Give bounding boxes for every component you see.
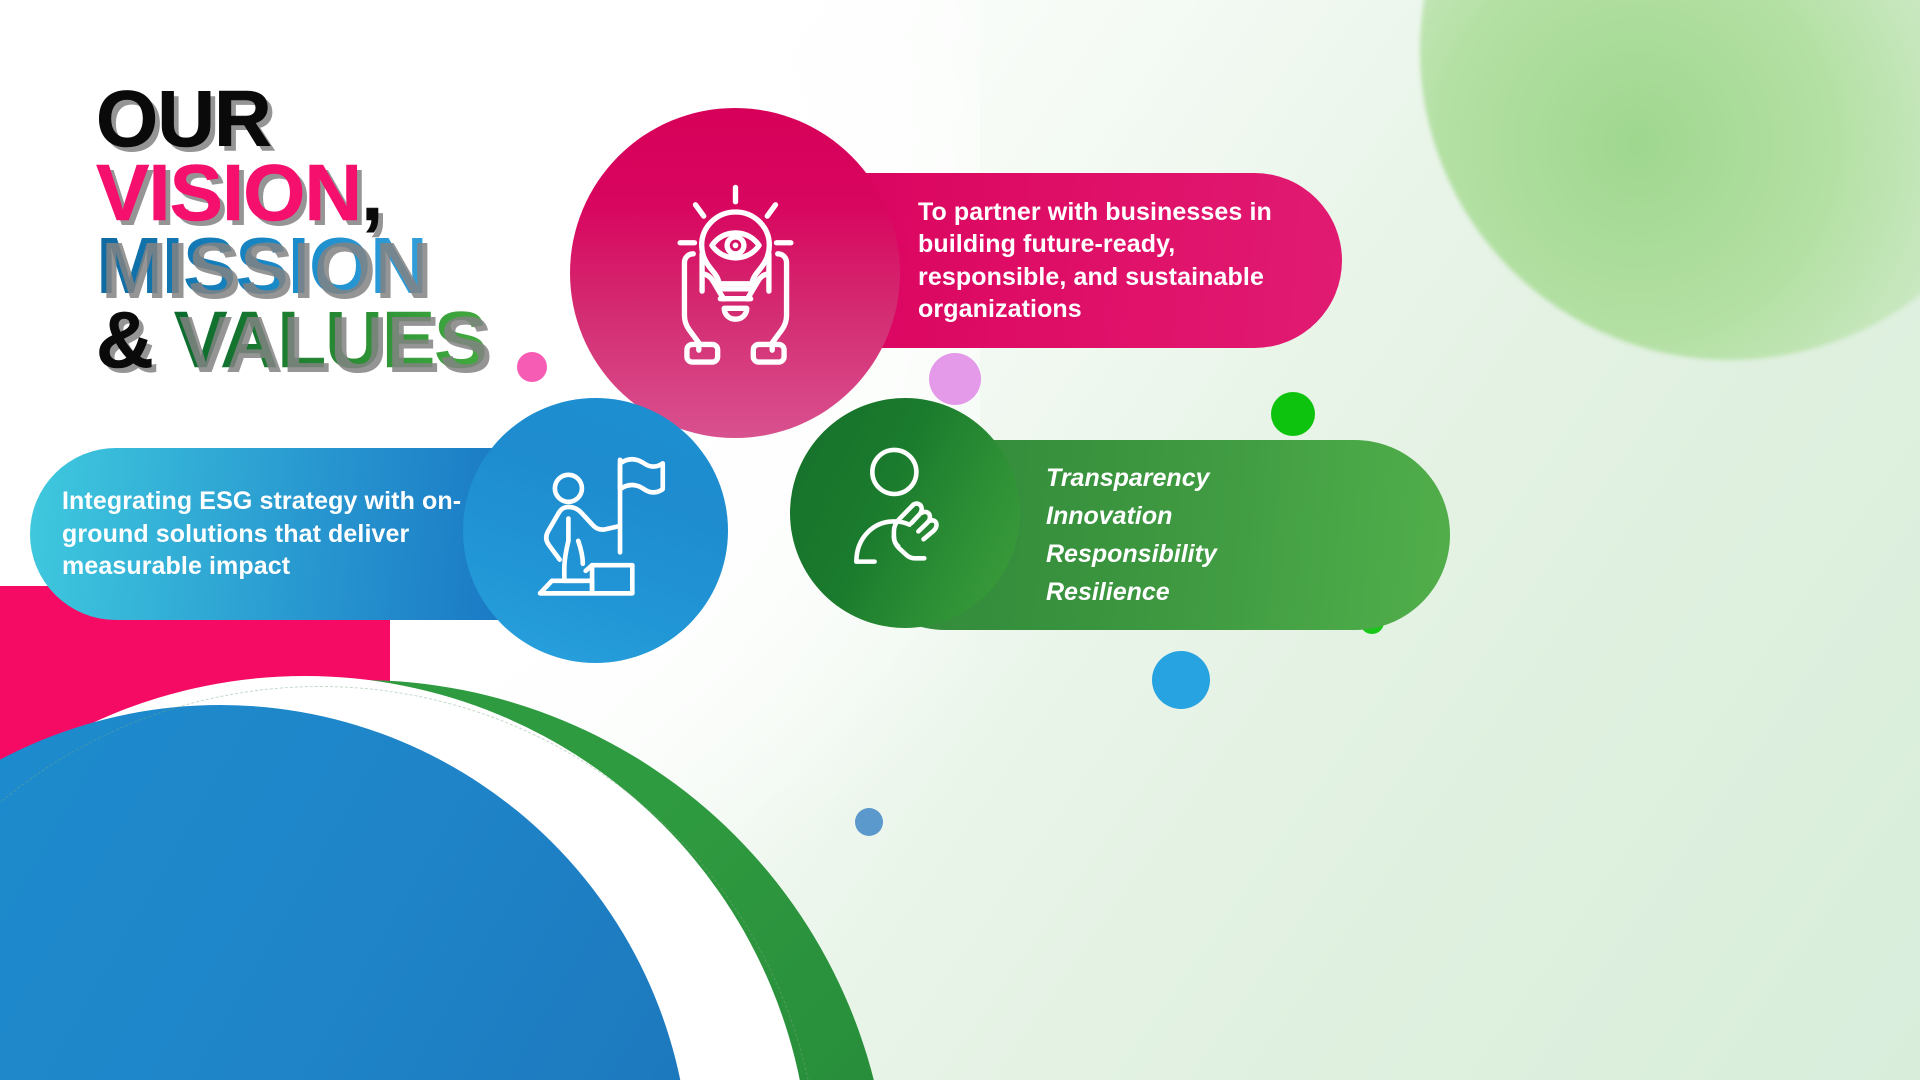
title-line-mission: MISSION — [96, 229, 487, 303]
title-line-values: & VALUES — [96, 303, 487, 377]
title-ampersand: & — [96, 295, 174, 384]
values-icon-circle — [790, 398, 1020, 628]
mission-text: Integrating ESG strategy with on-ground … — [62, 485, 488, 583]
decor-dot-green — [1271, 392, 1315, 436]
title-values-word: VALUES — [174, 295, 487, 384]
decor-dot-blue-small — [855, 808, 883, 836]
values-item: Responsibility — [1046, 535, 1217, 573]
title-line-vision: VISION, — [96, 156, 487, 230]
values-list: Transparency Innovation Responsibility R… — [1046, 459, 1217, 611]
values-item: Resilience — [1046, 573, 1217, 611]
page-title: OUR VISION, MISSION & VALUES — [96, 82, 487, 376]
decor-dot-blue — [1152, 651, 1210, 709]
decor-dot-violet — [929, 353, 981, 405]
values-item: Innovation — [1046, 497, 1217, 535]
vision-text: To partner with businesses in building f… — [918, 196, 1308, 326]
title-line-our: OUR — [96, 82, 487, 156]
lightbulb-eye-in-hands-icon — [633, 171, 838, 376]
mission-icon-circle — [463, 398, 728, 663]
decor-dot-pink — [517, 352, 547, 382]
person-hand-on-heart-icon — [829, 437, 981, 589]
person-flag-podium-icon — [507, 442, 685, 620]
values-item: Transparency — [1046, 459, 1217, 497]
vision-icon-circle — [570, 108, 900, 438]
